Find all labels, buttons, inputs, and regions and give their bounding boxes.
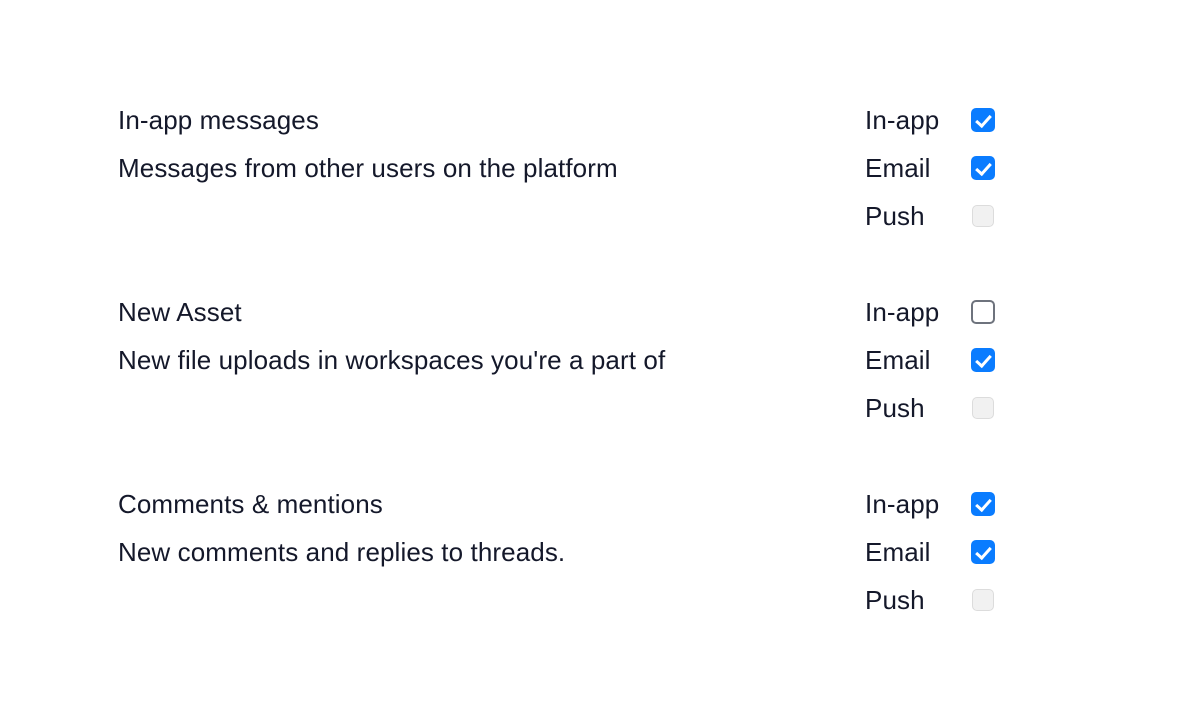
preference-title: Comments & mentions bbox=[118, 480, 848, 528]
channel-row-in-app[interactable]: In-app bbox=[865, 480, 1015, 528]
checkbox-email[interactable] bbox=[971, 540, 995, 564]
preference-group-text: In-app messages Messages from other user… bbox=[118, 96, 848, 192]
preference-group: New Asset New file uploads in workspaces… bbox=[0, 288, 1184, 480]
channel-label: Push bbox=[865, 384, 925, 432]
checkbox-in-app[interactable] bbox=[971, 492, 995, 516]
channel-label: Push bbox=[865, 576, 925, 624]
preference-title: New Asset bbox=[118, 288, 848, 336]
checkbox-push bbox=[972, 589, 994, 611]
channel-label: Email bbox=[865, 336, 931, 384]
channel-label: In-app bbox=[865, 288, 939, 336]
channel-row-email[interactable]: Email bbox=[865, 336, 1015, 384]
channel-list: In-app Email Push bbox=[865, 96, 1015, 240]
preference-group: In-app messages Messages from other user… bbox=[0, 96, 1184, 288]
channel-label: In-app bbox=[865, 96, 939, 144]
preference-title: In-app messages bbox=[118, 96, 848, 144]
preference-group-text: Comments & mentions New comments and rep… bbox=[118, 480, 848, 576]
preference-group-text: New Asset New file uploads in workspaces… bbox=[118, 288, 848, 384]
checkbox-email[interactable] bbox=[971, 348, 995, 372]
preference-group: Comments & mentions New comments and rep… bbox=[0, 480, 1184, 672]
preference-description: New comments and replies to threads. bbox=[118, 528, 848, 576]
channel-list: In-app Email Push bbox=[865, 288, 1015, 432]
preference-description: Messages from other users on the platfor… bbox=[118, 144, 848, 192]
channel-list: In-app Email Push bbox=[865, 480, 1015, 624]
channel-row-push[interactable]: Push bbox=[865, 384, 1015, 432]
notification-preferences-panel: In-app messages Messages from other user… bbox=[0, 0, 1184, 714]
checkbox-push bbox=[972, 397, 994, 419]
checkbox-push bbox=[972, 205, 994, 227]
channel-row-email[interactable]: Email bbox=[865, 144, 1015, 192]
channel-label: In-app bbox=[865, 480, 939, 528]
checkbox-in-app[interactable] bbox=[971, 300, 995, 324]
channel-row-push[interactable]: Push bbox=[865, 576, 1015, 624]
channel-row-in-app[interactable]: In-app bbox=[865, 96, 1015, 144]
checkbox-in-app[interactable] bbox=[971, 108, 995, 132]
channel-label: Email bbox=[865, 528, 931, 576]
channel-label: Email bbox=[865, 144, 931, 192]
channel-row-push[interactable]: Push bbox=[865, 192, 1015, 240]
channel-row-in-app[interactable]: In-app bbox=[865, 288, 1015, 336]
checkbox-email[interactable] bbox=[971, 156, 995, 180]
channel-label: Push bbox=[865, 192, 925, 240]
channel-row-email[interactable]: Email bbox=[865, 528, 1015, 576]
preference-description: New file uploads in workspaces you're a … bbox=[118, 336, 848, 384]
